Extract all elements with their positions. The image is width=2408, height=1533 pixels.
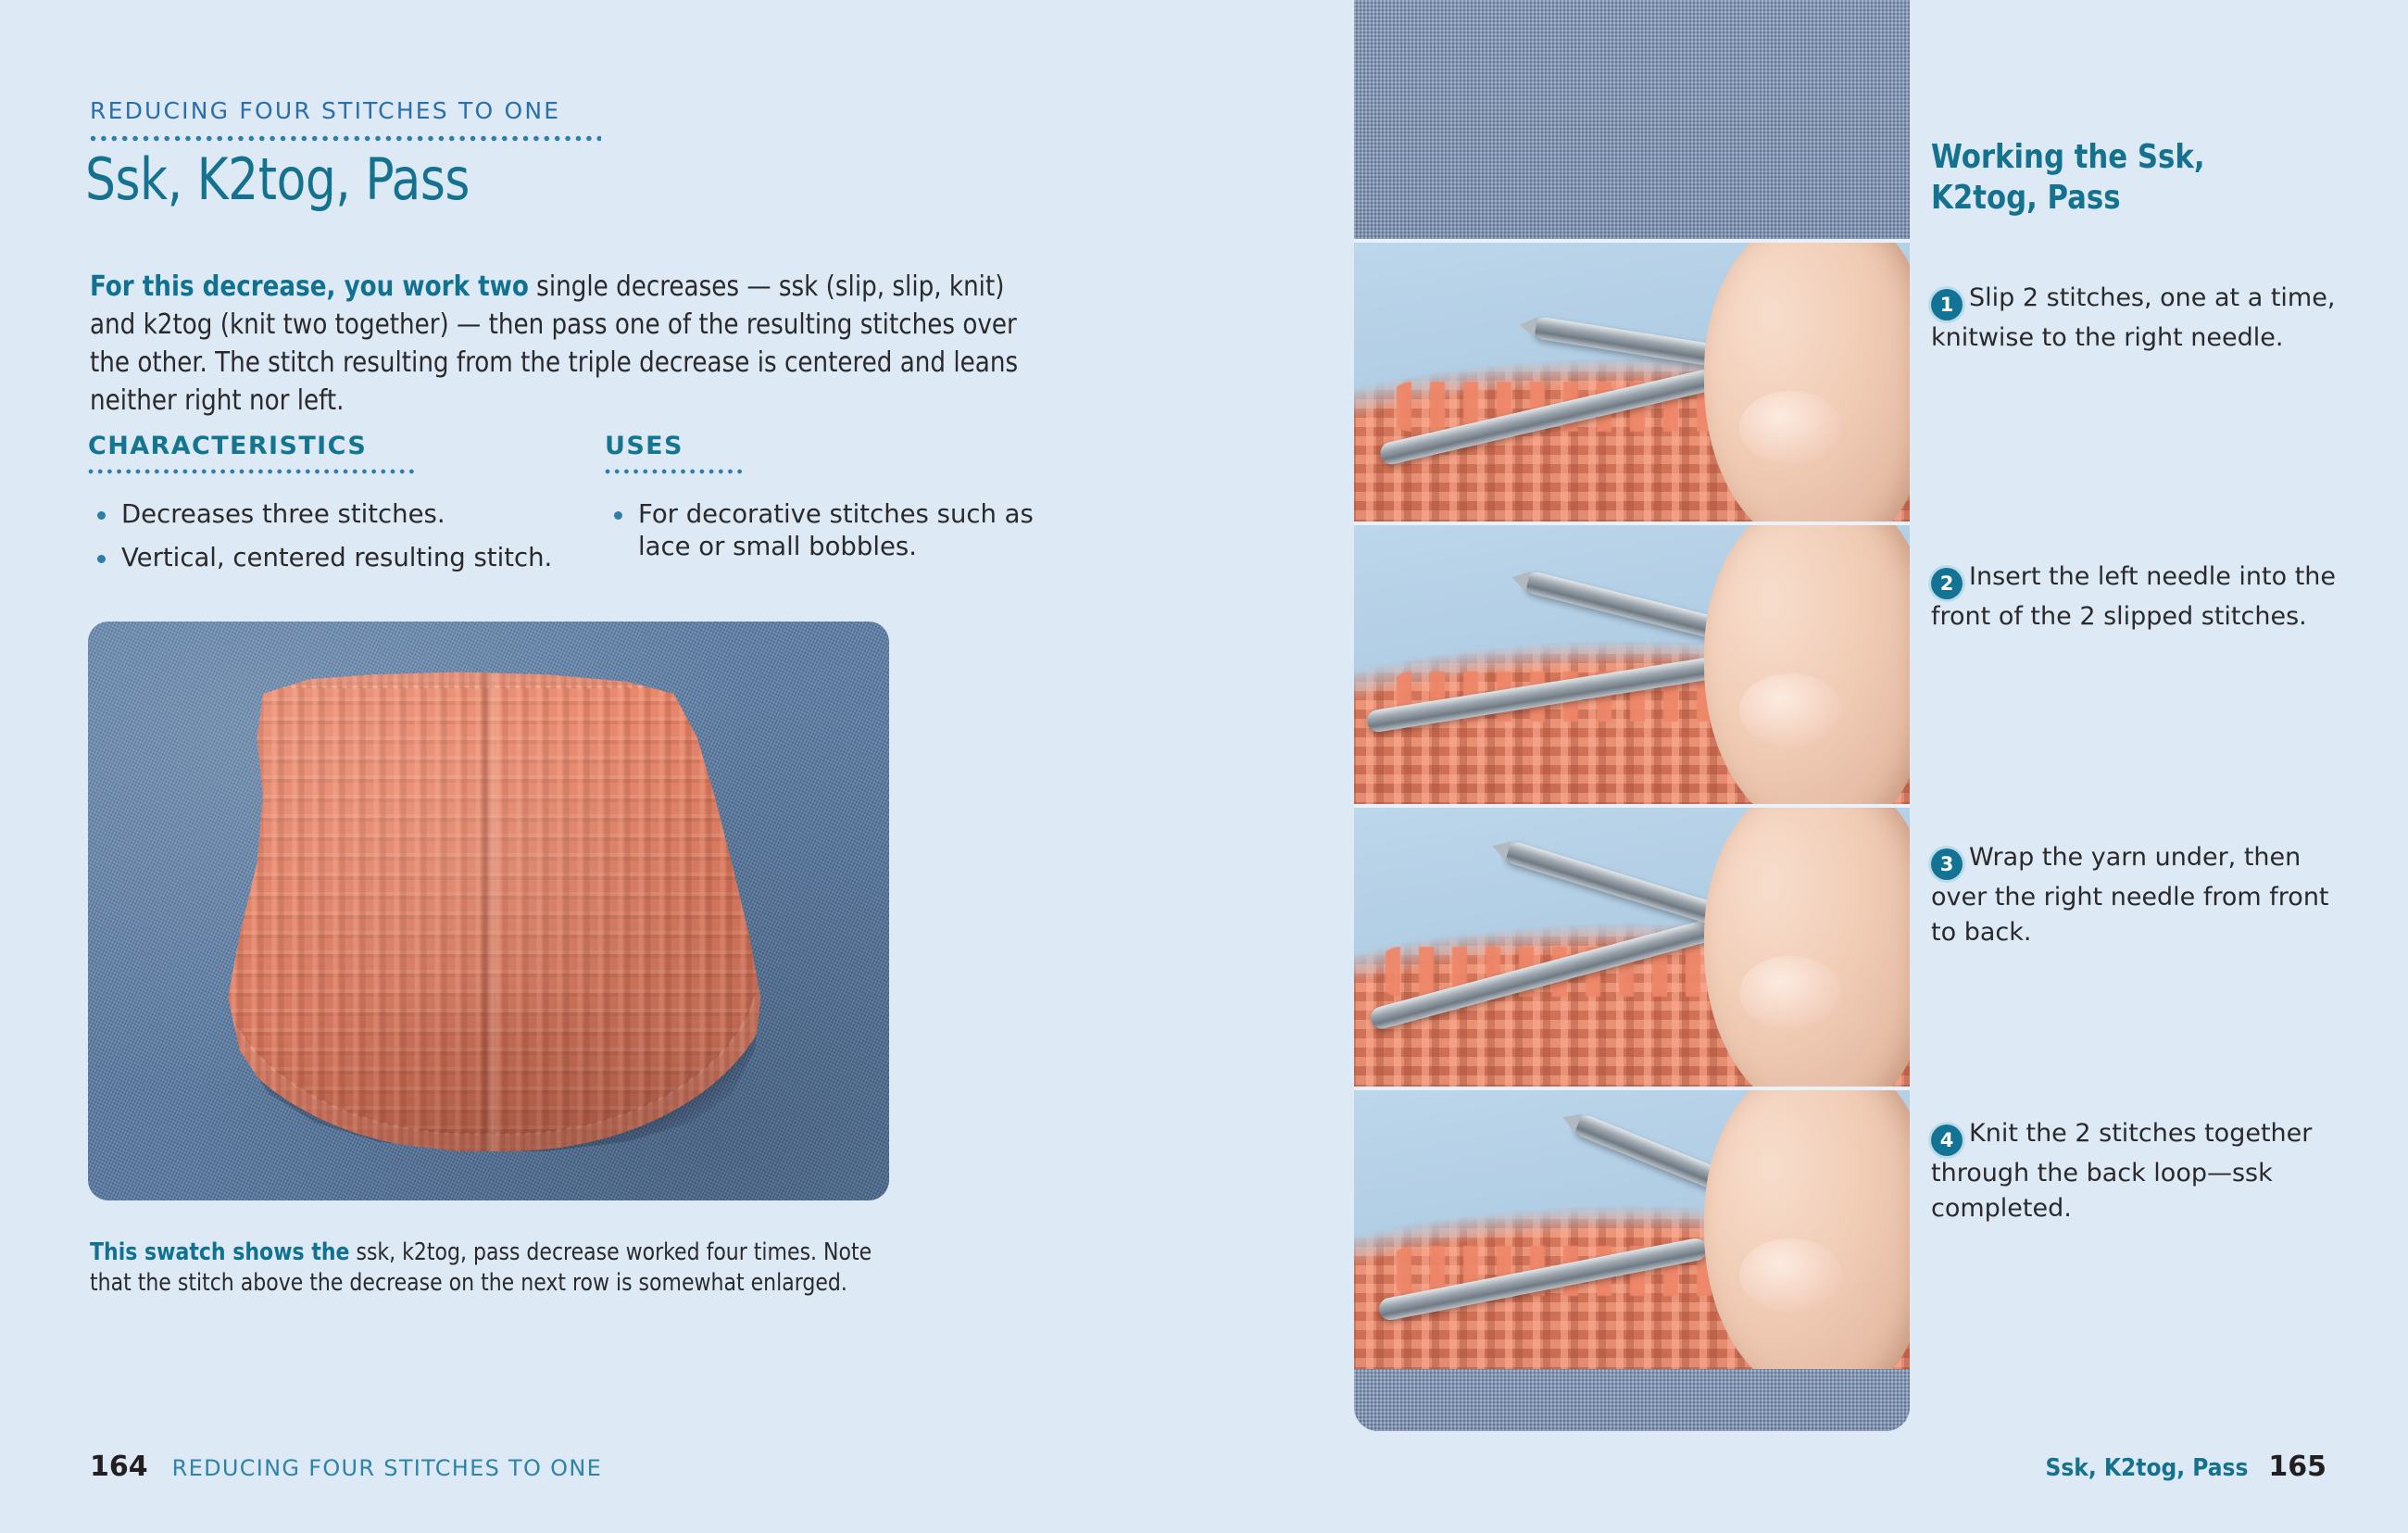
step-text: Insert the left needle into the front of… <box>1931 562 2336 631</box>
step-photo-4 <box>1354 1087 1910 1373</box>
hand <box>1704 1087 1910 1373</box>
knitting-scene <box>1354 1090 1910 1373</box>
denim-background-bottom <box>1354 1369 1910 1431</box>
characteristics-list: Decreases three stitches. Vertical, cent… <box>88 498 560 574</box>
intro-paragraph: For this decrease, you work two single d… <box>90 268 1023 420</box>
uses-heading: USES <box>605 432 1040 460</box>
fingernail <box>1739 1238 1841 1312</box>
caption-lead: This swatch shows the <box>90 1238 349 1266</box>
list-item: Decreases three stitches. <box>88 498 560 531</box>
uses-list: For decorative stitches such as lace or … <box>605 498 1040 563</box>
fingernail <box>1739 956 1841 1029</box>
knitting-scene <box>1354 525 1910 808</box>
right-running-head: Ssk, K2tog, Pass <box>2046 1454 2249 1482</box>
page-title: Ssk, K2tog, Pass <box>85 151 470 208</box>
step-3: 3Wrap the yarn under, then over the righ… <box>1931 840 2337 950</box>
characteristics-column: CHARACTERISTICS Decreases three stitches… <box>88 432 560 585</box>
intro-lead: For this decrease, you work two <box>90 270 529 303</box>
step-photo-1 <box>1354 239 1910 525</box>
steps-title: Working the Ssk, K2tog, Pass <box>1931 137 2318 219</box>
uses-dotted-rule <box>605 469 742 474</box>
eyebrow-dotted-rule <box>90 135 601 142</box>
left-page-number: 164 <box>90 1451 148 1483</box>
characteristics-heading: CHARACTERISTICS <box>88 432 560 460</box>
step-photo-strip <box>1354 0 1910 1431</box>
characteristics-dotted-rule <box>88 469 414 474</box>
step-text: Slip 2 stitches, one at a time, knitwise… <box>1931 283 2335 352</box>
feature-columns: CHARACTERISTICS Decreases three stitches… <box>88 432 1079 585</box>
fingernail <box>1739 673 1841 747</box>
step-number-badge: 1 <box>1931 289 1963 320</box>
left-footer: 164 REDUCING FOUR STITCHES TO ONE <box>90 1451 602 1483</box>
knitting-scene <box>1354 808 1910 1090</box>
swatch-photo <box>88 622 889 1200</box>
list-item: Vertical, centered resulting stitch. <box>88 542 560 574</box>
swatch-caption: This swatch shows the ssk, k2tog, pass d… <box>90 1238 872 1299</box>
step-text: Knit the 2 stitches together through the… <box>1931 1119 2312 1223</box>
step-1: 1Slip 2 stitches, one at a time, knitwis… <box>1931 281 2337 356</box>
left-running-head: REDUCING FOUR STITCHES TO ONE <box>172 1455 602 1481</box>
book-spread: REDUCING FOUR STITCHES TO ONE Ssk, K2tog… <box>0 0 2408 1533</box>
right-page: Working the Ssk, K2tog, Pass 1Slip 2 sti… <box>1931 0 2339 1533</box>
hand <box>1704 521 1910 808</box>
right-footer: Ssk, K2tog, Pass 165 <box>2046 1451 2326 1483</box>
hand <box>1704 239 1910 525</box>
uses-column: USES For decorative stitches such as lac… <box>605 432 1040 585</box>
fingernail <box>1739 391 1841 464</box>
step-number-badge: 4 <box>1931 1125 1963 1156</box>
step-4: 4Knit the 2 stitches together through th… <box>1931 1116 2337 1226</box>
step-2: 2Insert the left needle into the front o… <box>1931 559 2337 635</box>
step-text: Wrap the yarn under, then over the right… <box>1931 843 2329 947</box>
list-item: For decorative stitches such as lace or … <box>605 498 1040 563</box>
hand <box>1704 804 1910 1090</box>
step-photo-3 <box>1354 804 1910 1090</box>
left-page: REDUCING FOUR STITCHES TO ONE Ssk, K2tog… <box>0 0 1352 1533</box>
denim-background-top <box>1354 0 1910 239</box>
knitted-swatch <box>199 670 778 1151</box>
swatch-border-band <box>199 670 778 1151</box>
step-number-badge: 2 <box>1931 568 1963 599</box>
step-photo-2 <box>1354 521 1910 808</box>
right-page-number: 165 <box>2268 1451 2326 1483</box>
knitting-scene <box>1354 243 1910 525</box>
eyebrow-heading: REDUCING FOUR STITCHES TO ONE <box>90 97 560 124</box>
step-number-badge: 3 <box>1931 848 1963 880</box>
